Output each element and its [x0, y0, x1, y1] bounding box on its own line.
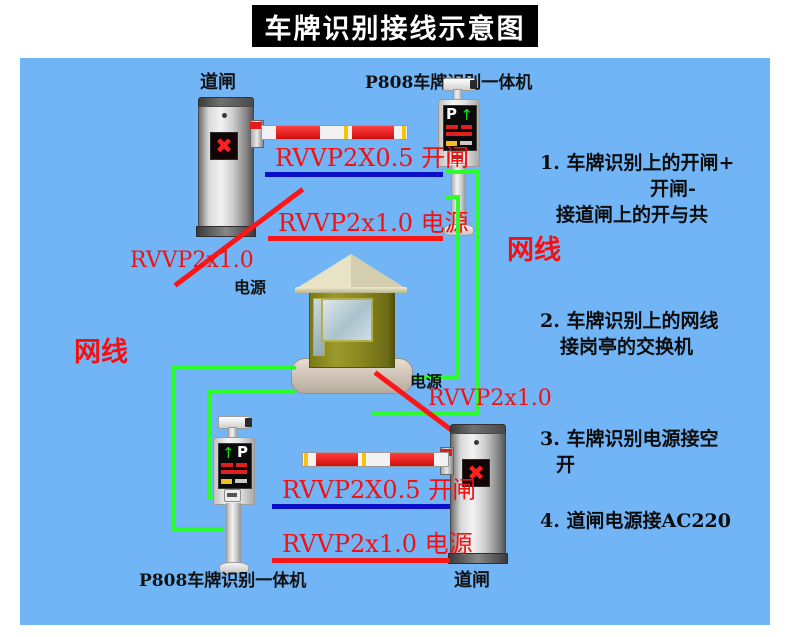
- lpr-pole: [226, 503, 241, 565]
- booth-window: [321, 298, 373, 342]
- parking-symbol: P: [237, 445, 248, 460]
- gate-cabinet: [198, 106, 254, 228]
- network-label-right: 网线: [507, 228, 561, 267]
- gate-keyhole-icon: [222, 113, 227, 118]
- network-cable-left-upper-horizontal: [172, 366, 296, 370]
- parking-symbol: P: [446, 107, 457, 122]
- note-1-line-3: 接道闸上的开与共: [556, 202, 708, 228]
- note-3-line-2: 开: [556, 452, 575, 478]
- note-1-line-1: 1. 车牌识别上的开闸+: [540, 150, 734, 176]
- note-4-line-1: 4. 道闸电源接AC220: [540, 508, 731, 534]
- booth-eave: [295, 287, 407, 293]
- network-cable-left-upper-bottom: [172, 527, 224, 531]
- wire-label-bottom-open-gate: RVVP2X0.5 开闸: [282, 470, 476, 505]
- network-cable-right-inner-vertical: [456, 195, 460, 380]
- booth-roof-shade: [351, 254, 405, 288]
- network-cable-right-outer-top: [446, 170, 480, 174]
- diagram-root: 车牌识别接线示意图 道闸 P808车牌识别一体机 ✖: [0, 0, 790, 637]
- diagram-title-bar: 车牌识别接线示意图: [252, 5, 538, 47]
- gate-boom-arm: [302, 452, 449, 467]
- network-cable-left-lower-horizontal: [207, 390, 296, 394]
- up-arrow-icon: ↑: [222, 446, 235, 461]
- wire-line-top-open-gate: [265, 172, 443, 177]
- wire-label-left-power-word: 电源: [234, 274, 266, 298]
- wire-label-top-power: RVVP2x1.0 电源: [278, 203, 469, 238]
- note-2-line-1: 2. 车牌识别上的网线: [540, 308, 718, 334]
- gate-keyhole-icon: [474, 440, 479, 445]
- network-cable-right-outer-vertical: [476, 170, 480, 415]
- wire-line-bottom-open-gate: [272, 504, 450, 509]
- network-cable-right-inner-top: [446, 195, 460, 199]
- network-cable-left-lower-vertical: [207, 390, 211, 500]
- wire-line-top-power: [268, 236, 443, 241]
- label-top-gate: 道闸: [200, 68, 236, 94]
- up-arrow-icon: ↑: [460, 108, 473, 123]
- note-3-line-1: 3. 车牌识别电源接空: [540, 426, 718, 452]
- network-label-left: 网线: [74, 330, 128, 369]
- lpr-led-screen: ↑ P: [218, 443, 252, 489]
- note-1-line-2: 开闸-: [650, 176, 696, 202]
- card-reader-icon: [224, 489, 241, 502]
- page-title: 车牌识别接线示意图: [265, 7, 526, 46]
- wire-label-booth-power: RVVP2x1.0: [428, 386, 552, 411]
- wire-label-top-open-gate: RVVP2X0.5 开闸: [275, 138, 469, 173]
- booth-corner: [387, 292, 395, 366]
- wire-label-left-power: RVVP2x1.0: [130, 248, 254, 273]
- wire-line-bottom-power: [272, 558, 450, 563]
- lpr-display-housing: ↑ P: [213, 437, 255, 505]
- label-bottom-lpr: P808车牌识别一体机: [139, 566, 306, 591]
- diagram-canvas: 道闸 P808车牌识别一体机 ✖: [20, 58, 770, 625]
- note-2-line-2: 接岗亭的交换机: [560, 334, 693, 360]
- wire-label-bottom-power: RVVP2x1.0 电源: [282, 524, 473, 559]
- gate-status-x-icon: ✖: [210, 132, 238, 160]
- label-bottom-gate: 道闸: [454, 566, 490, 592]
- network-cable-left-upper-vertical: [172, 366, 176, 531]
